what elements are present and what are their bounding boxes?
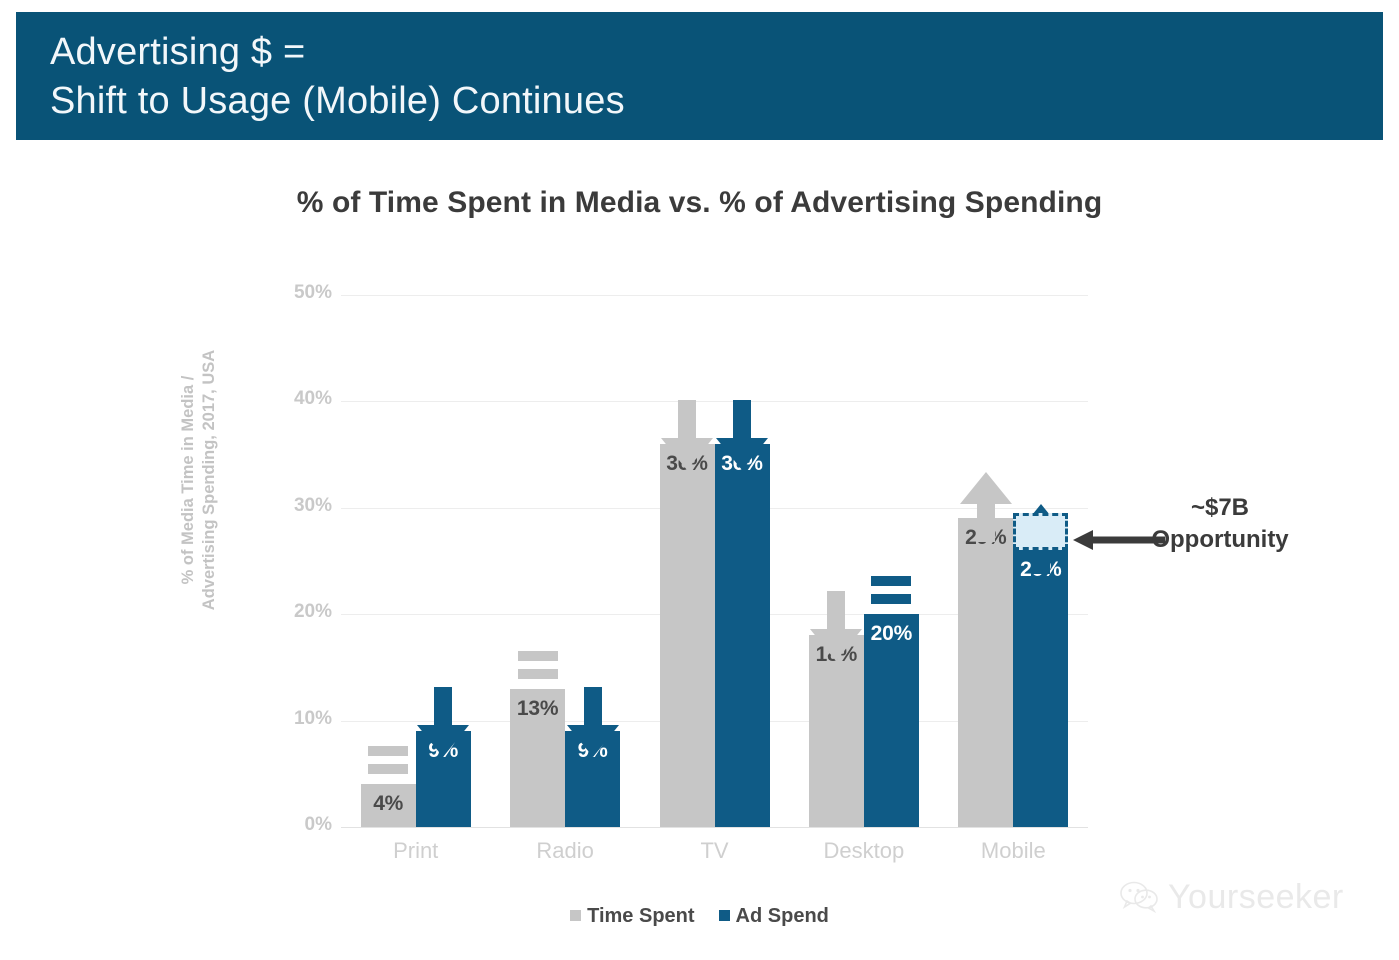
- gridline: [341, 827, 1088, 828]
- trend-marker-down-icon: [659, 400, 715, 472]
- y-axis-tick-label: 40%: [272, 388, 332, 410]
- bar-radio-time-spent: 13%: [510, 689, 565, 827]
- trend-marker-equals-icon: [516, 647, 560, 683]
- y-axis-tick-label: 20%: [272, 601, 332, 623]
- trend-marker-equals-icon: [869, 572, 913, 608]
- y-axis-tick-label: 30%: [272, 495, 332, 517]
- y-axis-title: % of Media Time in Media / Advertising S…: [178, 330, 238, 630]
- trend-marker-down-icon: [714, 400, 770, 472]
- bar-tv-ad-spend: 36%: [715, 444, 770, 827]
- y-axis-title-line2: Advertising Spending, 2017, USA: [199, 330, 220, 630]
- y-axis-tick-label: 50%: [272, 282, 332, 304]
- trend-marker-up-icon: [958, 470, 1014, 542]
- legend-item-time-spent[interactable]: Time Spent: [570, 905, 694, 928]
- watermark: Yourseeker: [1120, 878, 1344, 917]
- y-axis-tick-label: 10%: [272, 708, 332, 730]
- bar-desktop-time-spent: 18%: [809, 635, 864, 827]
- bar-tv-time-spent: 36%: [660, 444, 715, 827]
- trend-marker-equals-icon: [366, 742, 410, 778]
- bar-value-label: 13%: [510, 697, 565, 721]
- x-axis-tick-label-print: Print: [336, 838, 496, 864]
- bar-value-label: 20%: [864, 622, 919, 646]
- opportunity-box: [1013, 513, 1068, 550]
- opportunity-annotation-line2: Opportunity: [1110, 524, 1330, 556]
- y-axis-tick-label: 0%: [272, 814, 332, 836]
- legend-swatch: [570, 910, 581, 921]
- gridline: [341, 295, 1088, 296]
- wechat-icon: [1120, 880, 1160, 914]
- opportunity-annotation-line1: ~$7B: [1110, 492, 1330, 524]
- y-axis-title-line1: % of Media Time in Media /: [178, 330, 199, 630]
- trend-marker-down-icon: [565, 687, 621, 759]
- x-axis-tick-label-desktop: Desktop: [784, 838, 944, 864]
- bar-value-label: 4%: [361, 792, 416, 816]
- bar-print-time-spent: 4%: [361, 784, 416, 827]
- x-axis-tick-label-radio: Radio: [485, 838, 645, 864]
- bar-desktop-ad-spend: 20%: [864, 614, 919, 827]
- bar-mobile-ad-spend: 26%: [1013, 550, 1068, 827]
- opportunity-annotation: ~$7B Opportunity: [1110, 492, 1330, 556]
- legend-item-ad-spend[interactable]: Ad Spend: [719, 905, 829, 928]
- trend-marker-down-icon: [415, 687, 471, 759]
- x-axis-tick-label-tv: TV: [635, 838, 795, 864]
- legend-swatch: [719, 910, 730, 921]
- trend-marker-down-icon: [808, 591, 864, 663]
- legend-label: Time Spent: [587, 905, 694, 927]
- watermark-label: Yourseeker: [1168, 878, 1344, 916]
- legend-label: Ad Spend: [736, 905, 829, 927]
- bar-mobile-time-spent: 29%: [958, 518, 1013, 827]
- chart-plot-area: % of Media Time in Media / Advertising S…: [0, 0, 1399, 960]
- x-axis-tick-label-mobile: Mobile: [933, 838, 1093, 864]
